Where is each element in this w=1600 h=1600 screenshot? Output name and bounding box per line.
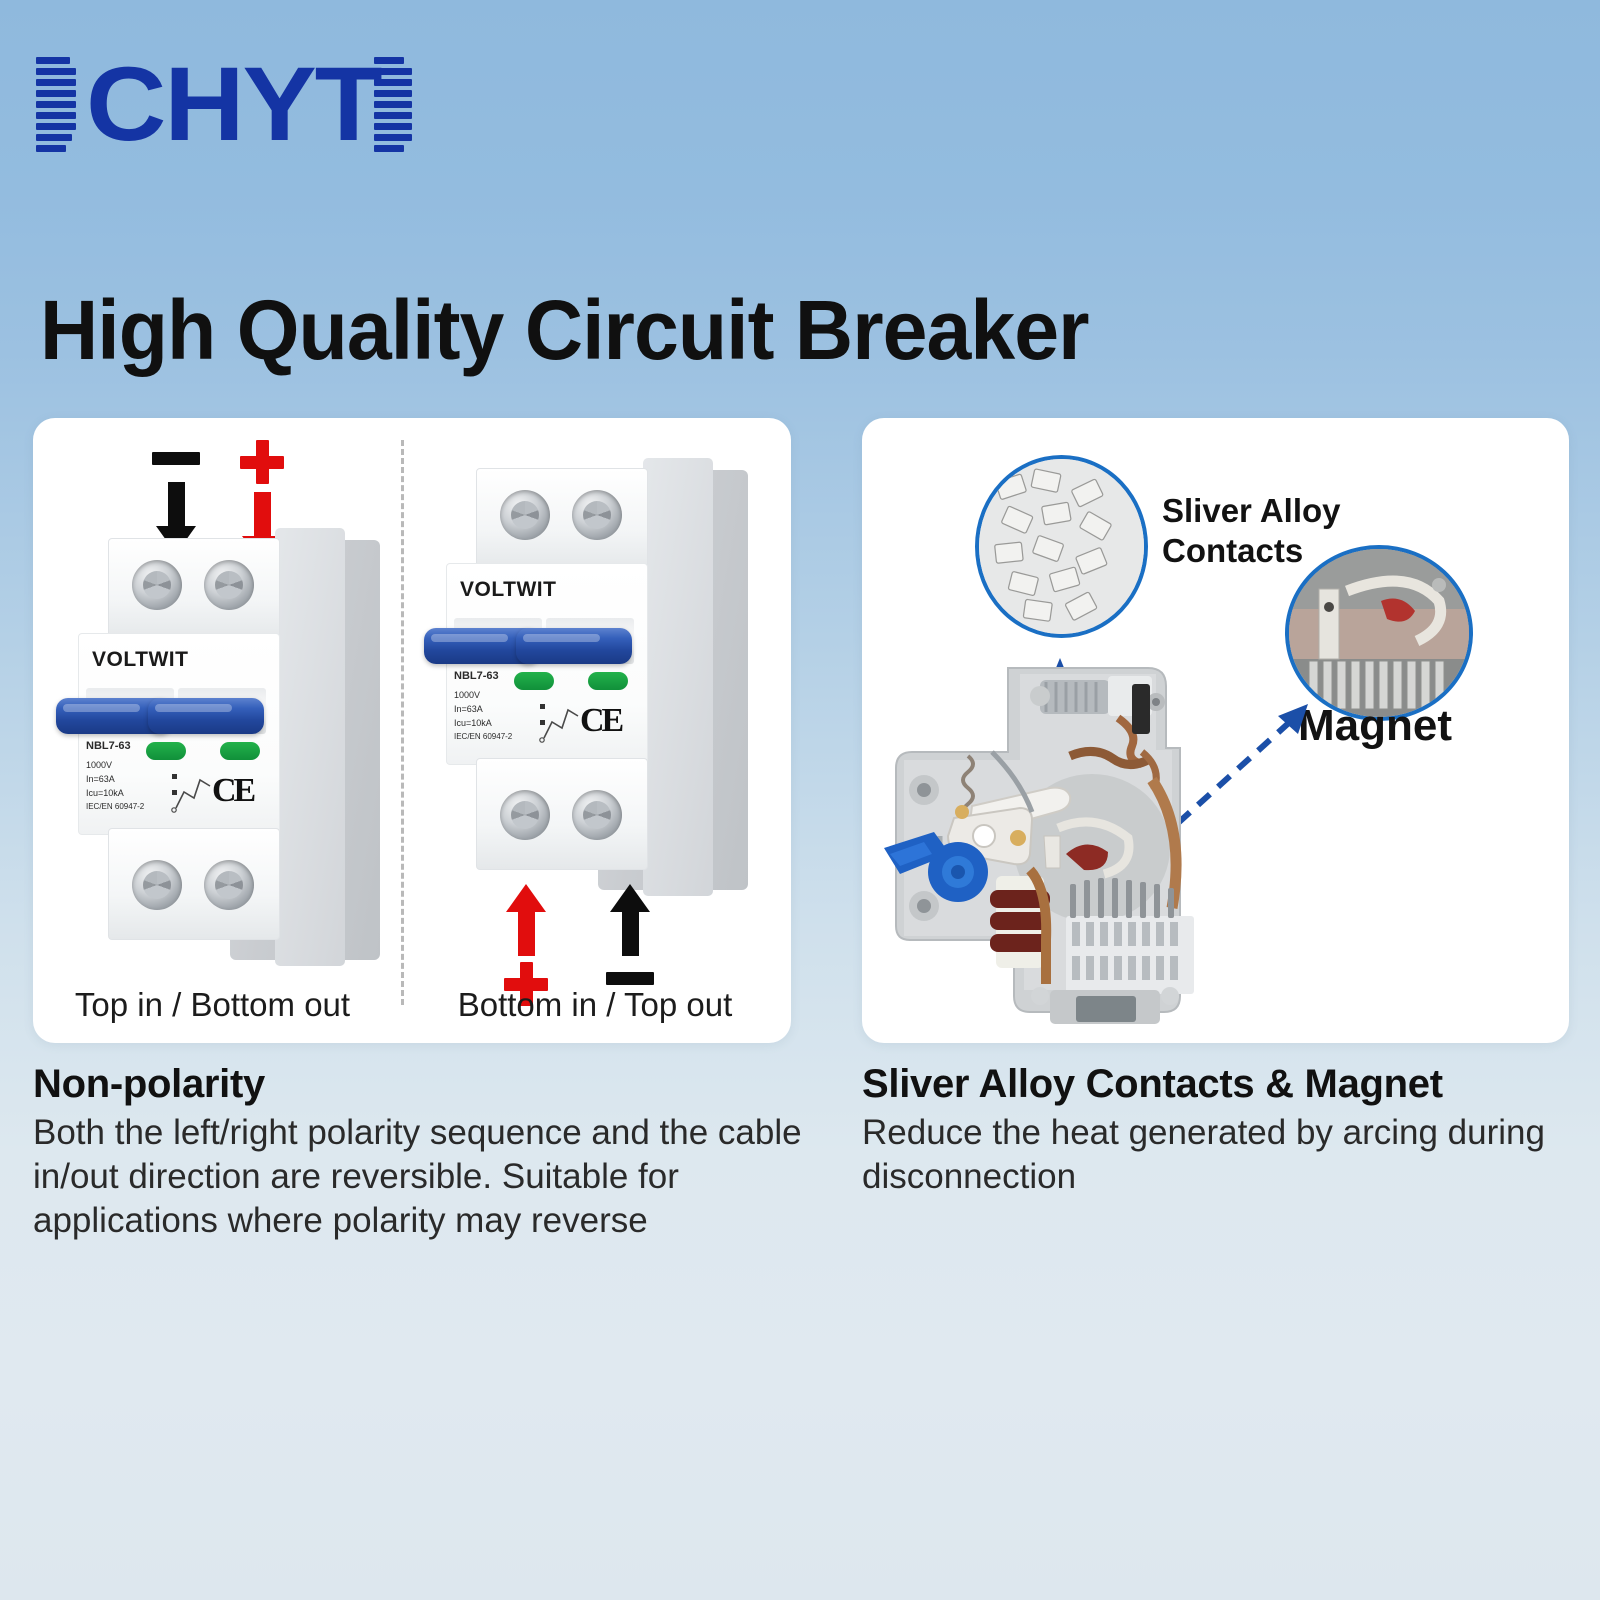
terminal-screw-icon: [132, 860, 182, 910]
breaker-current-right: In=63A: [454, 704, 483, 715]
up-arrow-red-right: [506, 884, 546, 956]
breaker-model-right: NBL7-63: [454, 670, 499, 684]
minus-symbol-bottom-right: [606, 972, 654, 985]
ce-mark-right: CE: [580, 702, 621, 740]
caption-left-title: Non-polarity: [33, 1062, 813, 1107]
breaker-breaking-left: Icu=10kA: [86, 788, 124, 799]
infographic-page: CHYT High Quality Circuit Breaker VOLTWI…: [0, 0, 1600, 1600]
trip-curve-icon: [170, 758, 216, 814]
plus-symbol-top-left: [240, 440, 284, 484]
terminal-screw-icon: [572, 490, 622, 540]
breaker-voltage-left: 1000V: [86, 760, 112, 771]
caption-left-body: Both the left/right polarity sequence an…: [33, 1111, 813, 1243]
terminal-screw-icon: [572, 790, 622, 840]
ce-mark-left: CE: [212, 772, 253, 810]
logo-text: CHYT: [86, 52, 380, 157]
terminal-screw-icon: [204, 860, 254, 910]
terminal-screw-icon: [500, 490, 550, 540]
caption-top-in-bottom-out: Top in / Bottom out: [40, 986, 385, 1024]
caption-bottom-in-top-out: Bottom in / Top out: [420, 986, 770, 1024]
terminal-screw-icon: [204, 560, 254, 610]
caption-left: Non-polarity Both the left/right polarit…: [33, 1062, 813, 1243]
caption-right-body: Reduce the heat generated by arcing duri…: [862, 1111, 1572, 1199]
breaker-voltage-right: 1000V: [454, 690, 480, 701]
breaker-lever-right-2: [516, 628, 632, 664]
breaker-internal-mechanism: [880, 640, 1300, 1030]
brand-logo: CHYT: [36, 52, 412, 157]
up-arrow-black-right: [610, 884, 650, 956]
breaker-lever-left-2: [148, 698, 264, 734]
terminal-screw-icon: [500, 790, 550, 840]
terminal-screw-icon: [132, 560, 182, 610]
breaker-breaking-right: Icu=10kA: [454, 718, 492, 729]
trip-curve-icon: [538, 688, 584, 744]
caption-right: Sliver Alloy Contacts & Magnet Reduce th…: [862, 1062, 1572, 1199]
breaker-unit-left: VOLTWIT NBL7-63 1000V In=63A Icu=10kA IE…: [60, 520, 380, 980]
logo-bars-left-icon: [36, 57, 76, 152]
breaker-standard-right: IEC/EN 60947-2: [454, 732, 512, 742]
breaker-standard-left: IEC/EN 60947-2: [86, 802, 144, 812]
page-title: High Quality Circuit Breaker: [40, 284, 1089, 376]
caption-right-title: Sliver Alloy Contacts & Magnet: [862, 1062, 1572, 1107]
breaker-brand-left: VOLTWIT: [92, 648, 188, 672]
minus-symbol-top-left: [152, 452, 200, 465]
breaker-unit-right: VOLTWIT NBL7-63 1000V In=63A Icu=10kA IE…: [428, 450, 748, 910]
breaker-brand-right: VOLTWIT: [460, 578, 556, 602]
breaker-model-left: NBL7-63: [86, 740, 131, 754]
card-divider: [401, 440, 404, 1005]
breaker-current-left: In=63A: [86, 774, 115, 785]
